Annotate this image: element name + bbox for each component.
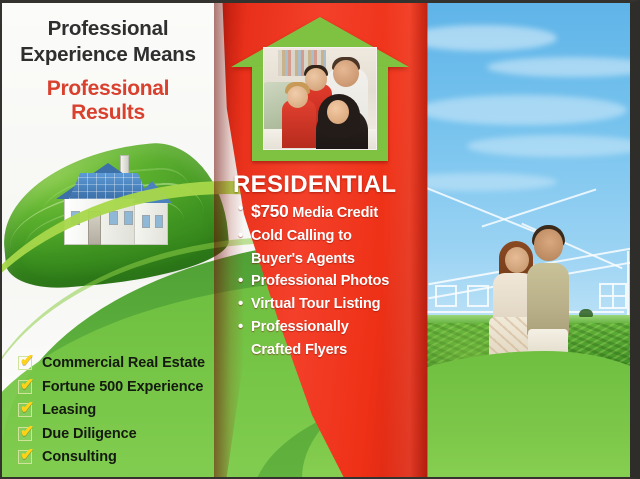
photo-girl-head — [287, 86, 308, 108]
list-item: Professional Photos — [238, 273, 418, 291]
checkmark-icon: ✔ — [18, 427, 32, 441]
flyer-stage: Professional Experience Means Profession… — [2, 3, 630, 477]
headline-line-2: Experience Means — [2, 43, 214, 67]
checklist-label: Fortune 500 Experience — [42, 379, 203, 395]
list-item[interactable]: ✔ Commercial Real Estate — [18, 355, 248, 371]
woman-head — [505, 247, 529, 273]
man-head — [534, 229, 563, 261]
headline-line-4: Results — [2, 101, 214, 125]
family-photo-house-frame — [231, 17, 409, 161]
list-item[interactable]: ✔ Fortune 500 Experience — [18, 379, 248, 395]
checklist-label: Consulting — [42, 449, 117, 465]
services-checklist: ✔ Commercial Real Estate ✔ Fortune 500 E… — [18, 355, 248, 473]
list-item[interactable]: ✔ Leasing — [18, 402, 248, 418]
cloud-icon — [467, 135, 630, 157]
cloud-icon — [427, 25, 557, 51]
headline-line-1: Professional — [2, 17, 214, 41]
list-item-continuation: Crafted Flyers — [238, 342, 418, 360]
checkmark-icon: ✔ — [18, 356, 32, 370]
family-photo — [263, 47, 377, 150]
checklist-label: Due Diligence — [42, 426, 137, 442]
headline-line-3: Professional — [2, 77, 214, 101]
photo-father-head — [333, 60, 359, 87]
cloud-icon — [427, 95, 627, 125]
checkmark-icon: ✔ — [18, 450, 32, 464]
residential-benefits-list: $750 Media Credit Cold Calling to Buyer'… — [238, 201, 418, 365]
benefit-text: Cold Calling to — [251, 228, 352, 244]
real-estate-flyer: Professional Experience Means Profession… — [0, 0, 640, 479]
list-item-continuation: Buyer's Agents — [238, 251, 418, 269]
list-item: Virtual Tour Listing — [238, 296, 418, 314]
photo-mother-face — [327, 100, 349, 124]
benefit-text: Professional Photos — [251, 273, 389, 289]
cloud-icon — [487, 57, 630, 77]
benefit-text: Buyer's Agents — [251, 251, 355, 267]
benefit-text: Professionally — [251, 319, 349, 335]
headline-block: Professional Experience Means Profession… — [2, 17, 214, 125]
benefit-text: Media Credit — [292, 205, 378, 221]
media-credit-amount: $750 — [251, 201, 288, 221]
checklist-label: Commercial Real Estate — [42, 355, 205, 371]
checkmark-icon: ✔ — [18, 403, 32, 417]
benefit-text: Crafted Flyers — [251, 342, 347, 358]
list-item: $750 Media Credit — [238, 201, 418, 223]
list-item: Professionally — [238, 319, 418, 337]
man-body — [527, 263, 569, 337]
residential-title: RESIDENTIAL — [233, 171, 396, 199]
list-item: Cold Calling to — [238, 228, 418, 246]
cloud-icon — [427, 173, 557, 191]
checklist-label: Leasing — [42, 402, 96, 418]
list-item[interactable]: ✔ Due Diligence — [18, 426, 248, 442]
list-item[interactable]: ✔ Consulting — [18, 449, 248, 465]
benefit-text: Virtual Tour Listing — [251, 296, 380, 312]
checkmark-icon: ✔ — [18, 380, 32, 394]
